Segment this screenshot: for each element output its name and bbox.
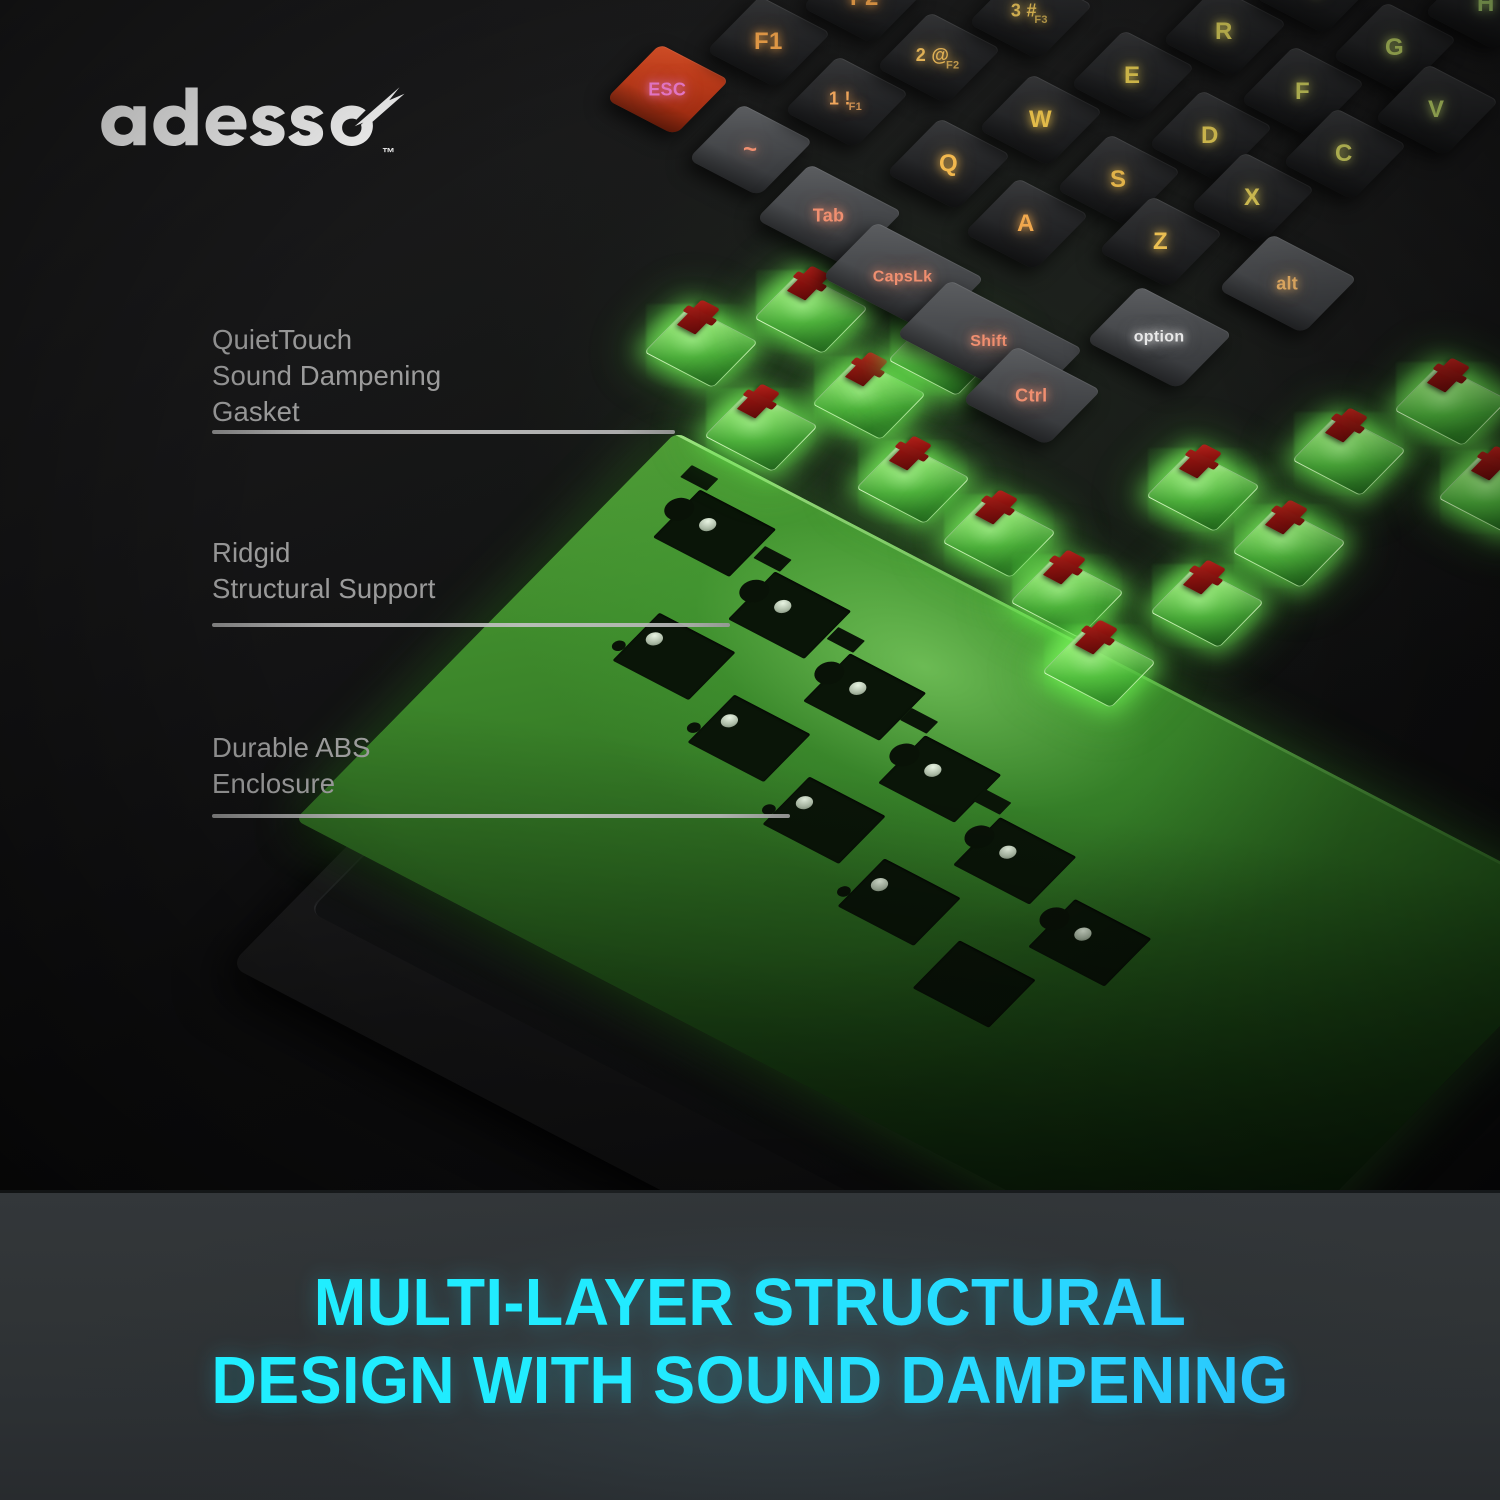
keycap-sub-legend: F2 xyxy=(946,61,959,72)
keycap-legend: V xyxy=(1428,98,1444,123)
keycap-legend: 2 @ xyxy=(916,46,949,65)
keycap-legend: H xyxy=(1478,0,1496,17)
keycap-legend: A xyxy=(1018,212,1036,237)
keycap-legend: CapsLk xyxy=(873,269,933,286)
keycap-legend: G xyxy=(1385,36,1404,61)
keycap-legend: E xyxy=(1124,64,1140,89)
callout-label: Durable ABS Enclosure xyxy=(212,730,371,802)
callout-abs-enclosure: Durable ABS Enclosure xyxy=(212,730,371,802)
headline-banner: MULTI-LAYER STRUCTURAL DESIGN WITH SOUND… xyxy=(0,1190,1500,1500)
keycap-legend: T xyxy=(1309,0,1324,1)
keycap-sub-legend: F3 xyxy=(1034,15,1047,26)
leader-line xyxy=(212,623,730,627)
keycap-legend: F2 xyxy=(850,0,879,11)
keycap-legend: Z xyxy=(1153,230,1168,255)
adesso-brand-logo: ™ xyxy=(86,85,406,163)
keycap-sub-legend: F1 xyxy=(849,102,862,113)
keycap-legend: W xyxy=(1029,108,1052,133)
keycap-legend: option xyxy=(1134,329,1185,346)
keycap-legend: S xyxy=(1110,168,1126,193)
keycap-legend: F xyxy=(1295,80,1310,105)
keycap-legend: Q xyxy=(939,152,958,177)
product-photo-area: ESCF1F2~1 !F12 @F23 #F3TabQWERTCapsLkASD… xyxy=(0,0,1500,1190)
banner-headline: MULTI-LAYER STRUCTURAL DESIGN WITH SOUND… xyxy=(45,1264,1455,1419)
keycap-legend: F1 xyxy=(754,30,783,55)
keycap-legend: ESC xyxy=(649,80,687,99)
leader-line xyxy=(212,814,790,818)
callout-quiettouch-gasket: QuietTouch Sound Dampening Gasket xyxy=(212,322,441,429)
keycap-legend: alt xyxy=(1277,274,1299,293)
callout-label: QuietTouch Sound Dampening Gasket xyxy=(212,322,441,429)
keycap-legend: Ctrl xyxy=(1015,386,1047,405)
keycap-legend: Shift xyxy=(971,334,1008,351)
callout-label: Ridgid Structural Support xyxy=(212,535,435,607)
product-marketing-image: ESCF1F2~1 !F12 @F23 #F3TabQWERTCapsLkASD… xyxy=(0,0,1500,1500)
keycap-legend: D xyxy=(1202,124,1220,149)
svg-text:™: ™ xyxy=(382,145,395,160)
keycap-legend: ~ xyxy=(743,138,757,163)
leader-line xyxy=(212,430,675,434)
keycap-legend: R xyxy=(1216,20,1234,45)
keycap-legend: C xyxy=(1336,142,1354,167)
callout-structural-support: Ridgid Structural Support xyxy=(212,535,435,607)
keycap-legend: X xyxy=(1244,186,1260,211)
keycap-legend: Tab xyxy=(813,206,845,225)
